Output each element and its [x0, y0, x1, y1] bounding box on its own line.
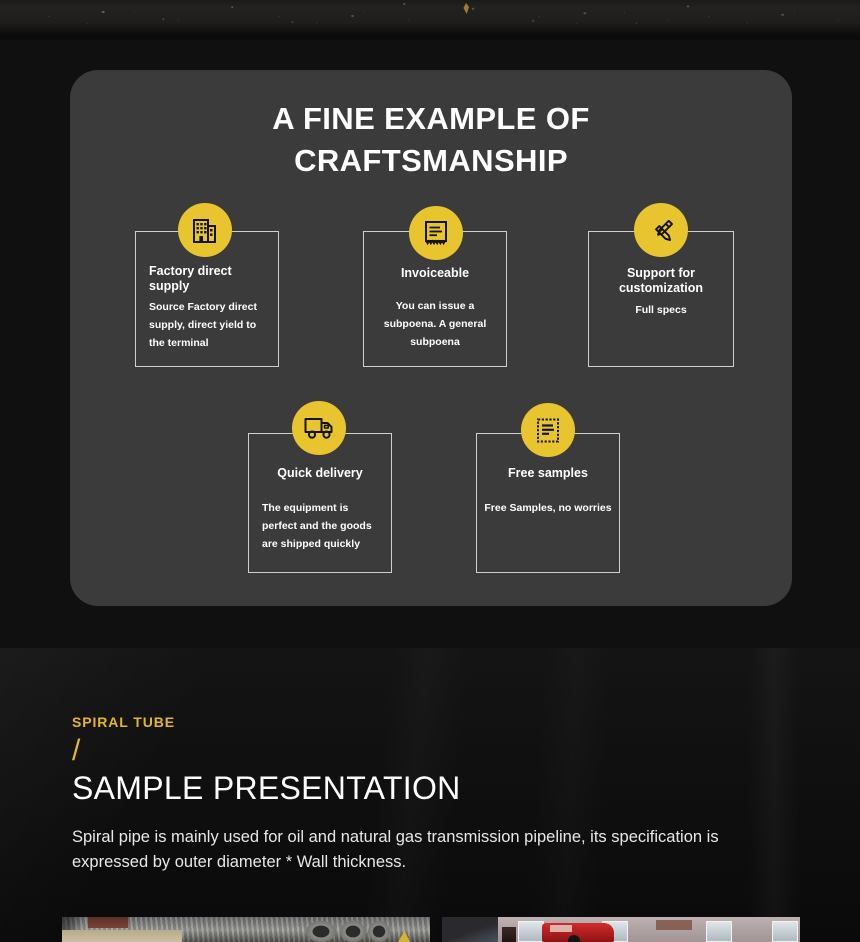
photo-van-wheel [568, 935, 580, 942]
pipe-end-ring [340, 921, 366, 942]
card-title: Invoiceable [370, 266, 500, 281]
card-body: Free Samples, no worries [483, 499, 613, 517]
photo-wall-sign [656, 920, 692, 930]
factory-building-icon [178, 203, 232, 257]
slash-divider: / [72, 736, 80, 766]
card-body: The equipment is perfect and the goods a… [262, 499, 381, 553]
page-root: A FINE EXAMPLE OF CRAFTSMANSHIP Factory … [0, 0, 860, 942]
texture-speck [690, 2, 860, 38]
gold-fleck-icon [463, 3, 469, 14]
photo-window [772, 921, 798, 942]
asphalt-texture-strip [0, 0, 860, 40]
crossed-pencils-icon [634, 203, 688, 257]
panel-title: A FINE EXAMPLE OF CRAFTSMANSHIP [70, 98, 792, 183]
panel-title-line-2: CRAFTSMANSHIP [70, 140, 792, 182]
card-title: Factory direct supply [149, 264, 268, 294]
photo-ground [62, 930, 182, 942]
texture-speck [30, 2, 220, 38]
panel-title-line-1: A FINE EXAMPLE OF [70, 98, 792, 140]
section-headline: SAMPLE PRESENTATION [72, 770, 461, 807]
spiral-pipes-photo[interactable] [62, 917, 430, 942]
photo-dark-foreground [442, 917, 498, 942]
photo-door [502, 927, 516, 942]
photo-yellow-marker [398, 931, 410, 942]
pipe-end-ring [368, 921, 390, 942]
card-title: Free samples [477, 466, 619, 481]
photo-window [518, 921, 544, 942]
delivery-truck-icon [292, 401, 346, 455]
document-sample-icon [521, 403, 575, 457]
card-body: Source Factory direct supply, direct yie… [149, 298, 266, 352]
photo-van-window [550, 925, 572, 932]
invoice-receipt-icon [409, 206, 463, 260]
texture-speck [260, 2, 450, 38]
pipe-end-ring [306, 921, 336, 942]
photo-brick-wall [88, 917, 128, 928]
section-eyebrow: SPIRAL TUBE [72, 714, 175, 730]
texture-speck [520, 2, 710, 38]
card-title: Quick delivery [249, 466, 391, 481]
section-lead-paragraph: Spiral pipe is mainly used for oil and n… [72, 825, 772, 875]
photo-window [706, 921, 732, 942]
card-title: Support for customization [593, 266, 729, 296]
red-van-building-photo[interactable] [442, 917, 800, 942]
card-body: You can issue a subpoena. A general subp… [370, 297, 500, 351]
card-body: Full specs [593, 301, 729, 319]
